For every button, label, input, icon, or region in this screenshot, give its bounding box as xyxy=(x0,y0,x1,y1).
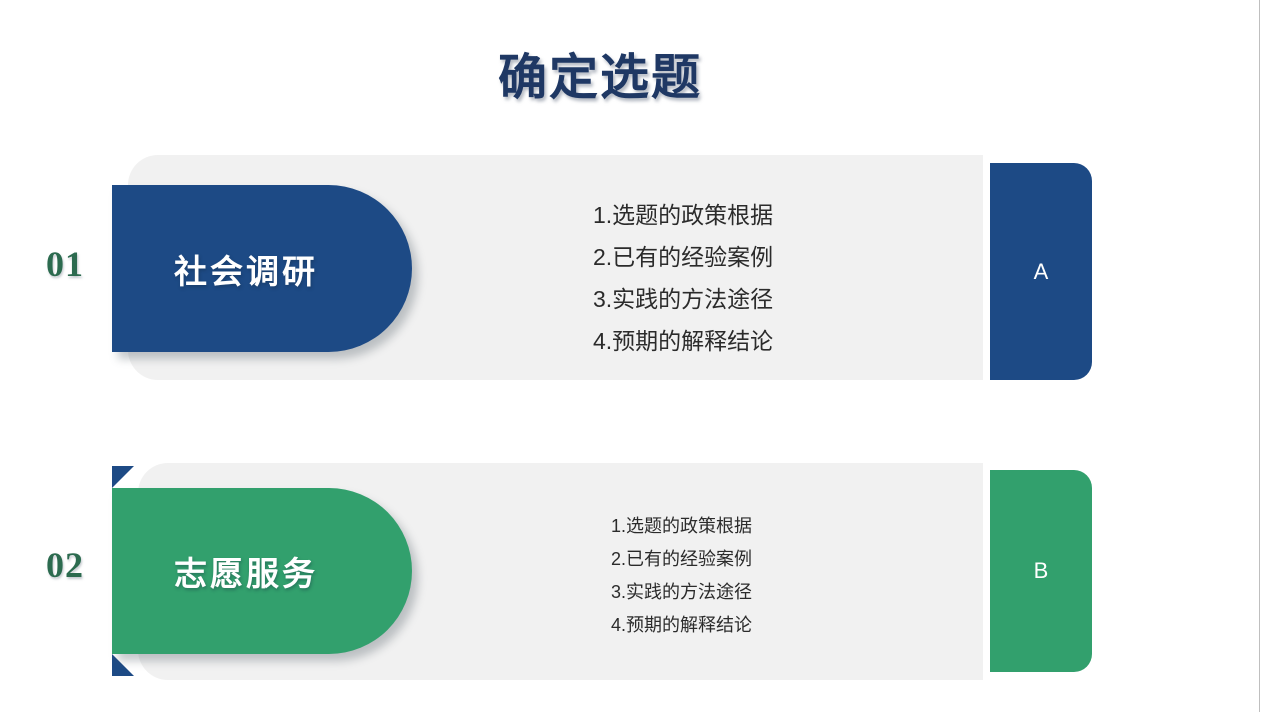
row-badge-b[interactable]: B xyxy=(990,470,1092,672)
slide-right-edge-divider xyxy=(1259,0,1260,712)
row-index-number-02: 02 xyxy=(46,544,84,586)
category-pill-2[interactable]: 志愿服务 xyxy=(112,488,412,654)
list-item: 4.预期的解释结论 xyxy=(611,609,752,642)
list-item: 3.实践的方法途径 xyxy=(611,576,752,609)
content-row-2: 02 志愿服务 1.选题的政策根据 2.已有的经验案例 3.实践的方法途径 4.… xyxy=(0,0,1268,712)
bullet-list-2: 1.选题的政策根据 2.已有的经验案例 3.实践的方法途径 4.预期的解释结论 xyxy=(611,510,752,642)
list-item: 2.已有的经验案例 xyxy=(611,543,752,576)
list-item: 1.选题的政策根据 xyxy=(611,510,752,543)
ribbon-notch-top-icon xyxy=(112,466,134,488)
slide-canvas: 确定选题 01 社会调研 1.选题的政策根据 2.已有的经验案例 3.实践的方法… xyxy=(0,0,1268,712)
ribbon-notch-bottom-icon xyxy=(112,654,134,676)
category-pill-label-2: 志愿服务 xyxy=(174,547,318,595)
